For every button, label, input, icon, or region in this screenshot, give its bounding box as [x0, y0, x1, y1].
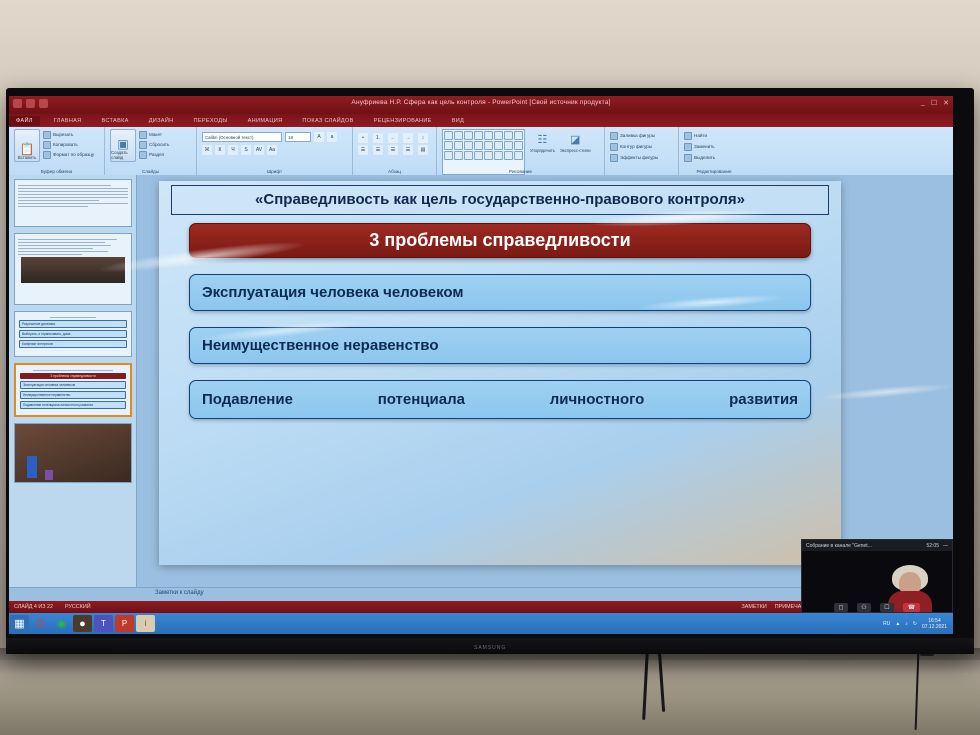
replace-icon — [684, 143, 692, 151]
share-icon[interactable]: ☐ — [880, 603, 894, 612]
thumbnail-slide-3[interactable]: Разрешение дилеммы Выбирать, и ограничив… — [14, 311, 132, 357]
shape-expand-icon[interactable] — [514, 151, 523, 160]
shape-brace-icon[interactable] — [474, 151, 483, 160]
slide-edit-pane[interactable]: «Справедливость как цель государственно-… — [137, 175, 953, 587]
bullet-list-icon[interactable]: • — [358, 133, 368, 143]
group-label-clipboard: Буфер обмена — [9, 169, 104, 174]
bold-button[interactable]: Ж — [202, 145, 212, 155]
italic-button[interactable]: К — [215, 145, 225, 155]
shape-arrow-icon[interactable] — [464, 131, 473, 140]
call-title: Собрание в канале "Genet... — [806, 543, 922, 549]
call-controls[interactable]: ◻ ⚇ ☐ ☎ — [802, 603, 952, 612]
shape-oval-icon[interactable] — [494, 131, 503, 140]
language-indicator[interactable]: РУССКИЙ — [65, 604, 91, 610]
new-slide-label: Создать слайд — [111, 150, 135, 160]
char-spacing-button[interactable]: AV — [254, 145, 264, 155]
powerpoint-icon[interactable]: P — [115, 615, 134, 632]
thumbnail-figure — [27, 456, 37, 478]
tab-review[interactable]: РЕЦЕНЗИРОВАНИЕ — [374, 118, 432, 124]
section-button[interactable]: Раздел — [139, 151, 169, 159]
slide-item-3[interactable]: Подавление потенциала личностного развит… — [189, 380, 811, 420]
tab-slideshow[interactable]: ПОКАЗ СЛАЙДОВ — [302, 118, 353, 124]
group-label-drawing: Рисование — [437, 169, 604, 174]
shape-curve-icon[interactable] — [454, 141, 463, 150]
shape-fill-label: Заливка фигуры — [620, 132, 655, 140]
tv-screen: Ануфриева Н.Р. Сфера как цель контроля -… — [9, 96, 953, 634]
thumb4-row-3: Подавление потенциала личностного развит… — [20, 401, 126, 409]
opera-icon[interactable]: O — [31, 615, 50, 632]
call-timer: 52:05 — [926, 543, 939, 549]
paragraph-controls[interactable]: • 1. ← → ↕ ☰ ☰ ☰ ☰ ▤ — [358, 129, 431, 155]
brush-icon — [43, 151, 51, 159]
copy-icon — [43, 141, 51, 149]
sync-icon[interactable]: ↻ — [913, 621, 917, 627]
align-left-icon[interactable]: ☰ — [358, 145, 368, 155]
section-icon — [139, 151, 147, 159]
shape-pentagon-icon[interactable] — [474, 141, 483, 150]
thumb4-row-1: Эксплуатация человека человеком — [20, 381, 126, 389]
editor-workspace: Разрешение дилеммы Выбирать, и ограничив… — [9, 175, 953, 587]
thumbnail-slide-5[interactable] — [14, 423, 132, 483]
increase-font-icon[interactable]: A — [314, 132, 324, 142]
shape-callout-icon[interactable] — [444, 151, 453, 160]
thumbnail-slide-1[interactable] — [14, 179, 132, 227]
select-label: Выделить — [694, 154, 715, 162]
thumbnail-slide-2[interactable] — [14, 233, 132, 305]
find-label: Найти — [694, 132, 707, 140]
shape-rect-icon[interactable] — [444, 131, 453, 140]
shape-hexagon-icon[interactable] — [504, 141, 513, 150]
copy-button[interactable]: Копировать — [43, 141, 94, 149]
shape-bar-icon[interactable] — [484, 151, 493, 160]
camera-icon[interactable]: ◻ — [834, 603, 848, 612]
tab-design[interactable]: ДИЗАЙН — [149, 118, 174, 124]
shape-bracket-icon[interactable] — [454, 151, 463, 160]
thumb4-row-2: Неимущественное неравенство — [20, 391, 126, 399]
notes-button[interactable]: ЗАМЕТКИ — [741, 604, 766, 610]
underline-button[interactable]: Ч — [228, 145, 238, 155]
shape-line-icon[interactable] — [454, 131, 463, 140]
slide-content: «Справедливость как цель государственно-… — [171, 185, 829, 551]
powerpoint-window: Ануфриева Н.Р. Сфера как цель контроля -… — [9, 96, 953, 613]
align-right-icon[interactable]: ☰ — [388, 145, 398, 155]
line-spacing-icon[interactable]: ↕ — [418, 133, 428, 143]
reset-label: Сбросить — [149, 141, 169, 149]
room-scene: Ануфриева Н.Р. Сфера как цель контроля -… — [0, 0, 980, 735]
font-size-input[interactable]: 18 — [285, 132, 311, 142]
shape-square-icon[interactable] — [474, 131, 483, 140]
font-style-controls[interactable]: Ж К Ч S AV Aa — [202, 142, 352, 155]
ribbon-group-drawing: ☷ Упорядочить ◪ Экспресс-стили Рисование — [437, 127, 605, 175]
change-case-button[interactable]: Aa — [267, 145, 277, 155]
teams-icon[interactable]: T — [94, 615, 113, 632]
thumb3-row-3: Конфликт интересов — [19, 340, 127, 348]
tv-display: Ануфриева Н.Р. Сфера как цель контроля -… — [6, 88, 974, 654]
thumb4-banner: 3 проблемы справедливости — [20, 373, 126, 379]
section-label: Раздел — [149, 151, 164, 159]
outline-icon — [610, 143, 618, 151]
taskbar-clock[interactable]: 16:54 07.12.2021 — [922, 618, 947, 630]
tv-bezel: SAMSUNG — [6, 638, 974, 654]
replace-label: Заменить — [694, 143, 715, 151]
call-minimize-icon[interactable]: — — [943, 543, 948, 549]
windows-desktop: Ануфриева Н.Р. Сфера как цель контроля -… — [9, 96, 953, 634]
tab-insert[interactable]: ВСТАВКА — [102, 118, 129, 124]
group-label-font: Шрифт — [197, 169, 352, 174]
thumb3-row-1: Разрешение дилеммы — [19, 320, 127, 328]
select-button[interactable]: Выделить — [684, 154, 744, 162]
new-slide-button[interactable]: ▣ Создать слайд — [110, 129, 136, 162]
align-center-icon[interactable]: ☰ — [373, 145, 383, 155]
network-icon[interactable]: ▲ — [895, 621, 900, 627]
slide-counter: СЛАЙД 4 ИЗ 22 — [14, 604, 53, 610]
ribbon-group-font: Calibri (Основной текст) 18 A a Ж К Ч S … — [197, 127, 353, 175]
group-label-editing: Редактирование — [679, 169, 749, 174]
shape-format-commands: Заливка фигуры Контур фигуры Эффекты фиг… — [610, 129, 673, 162]
start-icon[interactable]: ▦ — [10, 615, 29, 632]
search-icon — [684, 132, 692, 140]
shape-triangle-icon[interactable] — [444, 141, 453, 150]
quick-styles-label: Экспресс-стили — [560, 147, 591, 155]
close-icon[interactable]: ✕ — [943, 99, 949, 107]
ribbon-group-editing: Найти Заменить Выделить Редактирование — [679, 127, 749, 175]
ribbon-tabs[interactable]: ФАЙЛ ГЛАВНАЯ ВСТАВКА ДИЗАЙН ПЕРЕХОДЫ АНИ… — [9, 114, 953, 127]
shape-outline-button[interactable]: Контур фигуры — [610, 143, 673, 151]
layout-button[interactable]: Макет — [139, 131, 169, 139]
tab-transitions[interactable]: ПЕРЕХОДЫ — [194, 118, 228, 124]
hangup-icon[interactable]: ☎ — [903, 603, 920, 612]
teams-call-window[interactable]: Собрание в канале "Genet... 52:05 — ◻ ⚇ — [801, 539, 953, 613]
chrome-icon[interactable]: ◉ — [52, 615, 71, 632]
info-icon[interactable]: i — [136, 615, 155, 632]
shape-fill-button[interactable]: Заливка фигуры — [610, 132, 673, 140]
window-controls[interactable]: _ ☐ ✕ — [921, 99, 949, 107]
shape-more-icon[interactable] — [514, 131, 523, 140]
thumb3-row-2: Выбирать, и ограничивать, дома — [19, 330, 127, 338]
ribbon-group-slides: ▣ Создать слайд Макет Сбросить Раздел Сл… — [105, 127, 197, 175]
font-controls[interactable]: Calibri (Основной текст) 18 A a — [202, 129, 352, 142]
current-slide[interactable]: «Справедливость как цель государственно-… — [159, 181, 841, 565]
decrease-font-icon[interactable]: a — [327, 132, 337, 142]
quick-styles-icon: ◪ — [570, 133, 580, 146]
paste-label: Вставить — [18, 155, 37, 160]
call-titlebar: Собрание в канале "Genet... 52:05 — — [802, 540, 952, 551]
new-slide-icon: ▣ — [117, 138, 128, 150]
shape-effects-button[interactable]: Эффекты фигуры — [610, 154, 673, 162]
shape-rounded-icon[interactable] — [504, 131, 513, 140]
scissors-icon — [43, 131, 51, 139]
cut-label: Вырезать — [53, 131, 73, 139]
slide-banner[interactable]: 3 проблемы справедливости — [189, 223, 811, 258]
justify-icon[interactable]: ☰ — [403, 145, 413, 155]
numbered-list-icon[interactable]: 1. — [373, 133, 383, 143]
shape-star-icon[interactable] — [494, 151, 503, 160]
yandex-icon[interactable]: ● — [73, 615, 92, 632]
tab-animation[interactable]: АНИМАЦИЯ — [248, 118, 283, 124]
find-button[interactable]: Найти — [684, 132, 744, 140]
group-label-paragraph: Абзац — [353, 169, 436, 174]
layout-icon — [139, 131, 147, 139]
shape-freeform-icon[interactable] — [464, 141, 473, 150]
ribbon-tab-list[interactable]: ГЛАВНАЯ ВСТАВКА ДИЗАЙН ПЕРЕХОДЫ АНИМАЦИЯ… — [54, 118, 464, 124]
arrange-label: Упорядочить — [530, 147, 555, 155]
windows-taskbar[interactable]: ▦ O ◉ ● T P i RU ▲ ♪ ↻ 16:54 07.12.2021 — [9, 613, 953, 634]
slide-item-2[interactable]: Неимущественное неравенство — [189, 327, 811, 364]
slide-thumbnail-pane[interactable]: Разрешение дилеммы Выбирать, и ограничив… — [9, 175, 137, 587]
notes-placeholder[interactable]: Заметки к слайду — [155, 590, 204, 596]
ribbon-group-paragraph: • 1. ← → ↕ ☰ ☰ ☰ ☰ ▤ Абзац — [353, 127, 437, 175]
format-painter-button[interactable]: Формат по образцу — [43, 151, 94, 159]
layout-label: Макет — [149, 131, 162, 139]
reset-icon — [139, 141, 147, 149]
shape-corner-icon[interactable] — [464, 151, 473, 160]
shape-circle-icon[interactable] — [484, 131, 493, 140]
columns-icon[interactable]: ▤ — [418, 145, 428, 155]
fill-icon — [610, 132, 618, 140]
copy-label: Копировать — [53, 141, 78, 149]
replace-button[interactable]: Заменить — [684, 143, 744, 151]
shape-effects-label: Эффекты фигуры — [620, 154, 658, 162]
shadow-button[interactable]: S — [241, 145, 251, 155]
wall-upper — [0, 0, 980, 100]
tab-view[interactable]: ВИД — [452, 118, 464, 124]
thumbnail-figure-2 — [45, 470, 53, 480]
arrange-icon: ☷ — [538, 133, 548, 146]
system-tray[interactable]: RU ▲ ♪ ↻ 16:54 07.12.2021 — [883, 618, 953, 630]
format-painter-label: Формат по образцу — [53, 151, 94, 159]
tv-brand-logo: SAMSUNG — [474, 645, 506, 651]
effects-icon — [610, 154, 618, 162]
shape-outline-label: Контур фигуры — [620, 143, 652, 151]
indent-increase-icon[interactable]: → — [403, 133, 413, 143]
window-title: Ануфриева Н.Р. Сфера как цель контроля -… — [9, 99, 953, 106]
volume-icon[interactable]: ♪ — [905, 621, 908, 627]
thumbnail-photo — [21, 257, 125, 283]
editing-commands: Найти Заменить Выделить — [684, 129, 744, 162]
microphone-icon[interactable]: ⚇ — [857, 603, 871, 612]
ribbon-body: 📋 Вставить Вырезать Копировать Формат по… — [9, 127, 953, 176]
minimize-icon[interactable]: _ — [921, 99, 925, 107]
window-titlebar: Ануфриева Н.Р. Сфера как цель контроля -… — [9, 96, 953, 114]
tab-file[interactable]: ФАЙЛ — [9, 116, 40, 126]
ribbon-group-shape-format: Заливка фигуры Контур фигуры Эффекты фиг… — [605, 127, 679, 175]
slide-item-1[interactable]: Эксплуатация человека человеком — [189, 274, 811, 311]
group-label-slides: Слайды — [105, 169, 196, 174]
thumbnail-slide-4[interactable]: 3 проблемы справедливости Эксплуатация ч… — [14, 363, 132, 417]
ribbon-group-clipboard: 📋 Вставить Вырезать Копировать Формат по… — [9, 127, 105, 175]
shape-donut-icon[interactable] — [494, 141, 503, 150]
call-video-area: ◻ ⚇ ☐ ☎ — [802, 551, 952, 613]
font-name-input[interactable]: Calibri (Основной текст) — [202, 132, 282, 142]
paste-icon: 📋 — [20, 143, 35, 155]
select-icon — [684, 154, 692, 162]
shape-banner-icon[interactable] — [504, 151, 513, 160]
tab-home[interactable]: ГЛАВНАЯ — [54, 118, 82, 124]
restore-icon[interactable]: ☐ — [931, 99, 937, 107]
reset-button[interactable]: Сбросить — [139, 141, 169, 149]
cut-button[interactable]: Вырезать — [43, 131, 94, 139]
slide-title[interactable]: «Справедливость как цель государственно-… — [171, 185, 829, 215]
shape-ring-icon[interactable] — [484, 141, 493, 150]
clock-date: 07.12.2021 — [922, 624, 947, 630]
language-tray[interactable]: RU — [883, 621, 890, 627]
shape-scroll-icon[interactable] — [514, 141, 523, 150]
indent-decrease-icon[interactable]: ← — [388, 133, 398, 143]
paste-button[interactable]: 📋 Вставить — [14, 129, 40, 162]
